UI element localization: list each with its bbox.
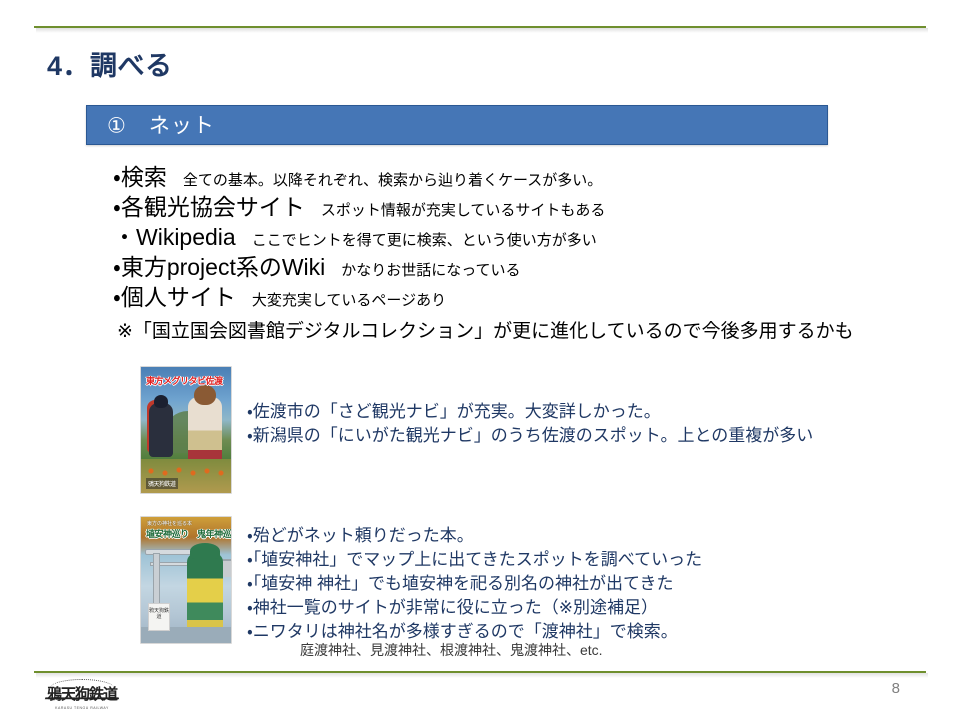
bullet-list: ・検索 全ての基本。以降それぞれ、検索から辿り着くケースが多い。 ・各観光協会サ… — [113, 166, 913, 316]
list-item: ・東方project系のWiki かなりお世話になっている — [113, 256, 913, 286]
bullet-keyword: ・東方project系のWiki — [113, 256, 325, 279]
cover2-ofuda-label: 鴉天狗鉄道 — [148, 603, 170, 631]
note-line: ※「国立国会図書館デジタルコレクション」が更に進化しているので今後多用するかも — [117, 316, 854, 343]
bullet-keyword: ・検索 — [113, 166, 167, 189]
cover2-top-caption: 東方の神社を巡る本 — [147, 520, 192, 527]
brand-logo: 鴉天狗鉄道 KARASU TENGU RAILWAY — [44, 678, 120, 710]
media-line: ・「埴安神 神社」でも埴安神を祀る別名の神社が出てきた — [247, 572, 702, 596]
media-text-block-1: ・佐渡市の「さど観光ナビ」が充実。大変詳しかった。 ・新潟県の「にいがた観光ナビ… — [247, 400, 813, 448]
cover2-character — [187, 553, 223, 633]
slide-root: 4．調べる ① ネット ・検索 全ての基本。以降それぞれ、検索から辿り着くケース… — [0, 0, 960, 720]
bullet-description: ここでヒントを得て更に検索、という使い方が多い — [252, 233, 597, 248]
brand-logo-subtext: KARASU TENGU RAILWAY — [44, 706, 120, 710]
book-cover-image-2: 鴉天狗鉄道 東方の神社を巡る本 埴安神巡り 鬼年神巡り — [140, 516, 232, 644]
bullet-description: スポット情報が充実しているサイトもある — [321, 203, 606, 218]
media-line: ・「埴安神社」でマップ上に出てきたスポットを調べていった — [247, 548, 702, 572]
bullet-keyword: ・個人サイト — [113, 286, 236, 309]
media-line: ・神社一覧のサイトが非常に役に立った（※別途補足） — [247, 596, 702, 620]
section-banner: ① ネット — [86, 105, 828, 145]
section-banner-label: ① ネット — [107, 109, 215, 139]
cover1-flowers — [145, 467, 229, 477]
list-item: ・各観光協会サイト スポット情報が充実しているサイトもある — [113, 196, 913, 226]
book-cover-image-1: 東方メグリタビ佐渡 鴉天狗鉄道 — [140, 366, 232, 494]
list-item: ・Wikipedia ここでヒントを得て更に検索、という使い方が多い — [113, 226, 913, 256]
cover2-title-text: 埴安神巡り 鬼年神巡り — [146, 527, 232, 540]
cover1-character-left — [149, 403, 173, 457]
media-line: ・佐渡市の「さど観光ナビ」が充実。大変詳しかった。 — [247, 400, 813, 424]
list-item: ・個人サイト 大変充実しているページあり — [113, 286, 913, 316]
bullet-keyword: ・Wikipedia — [113, 226, 236, 249]
bullet-description: かなりお世話になっている — [341, 263, 520, 278]
cover1-footer-caption: 鴉天狗鉄道 — [146, 478, 178, 489]
bullet-keyword: ・各観光協会サイト — [113, 196, 305, 219]
media-text-block-2: ・殆どがネット頼りだった本。 ・「埴安神社」でマップ上に出てきたスポットを調べて… — [247, 524, 702, 644]
page-number: 8 — [892, 680, 900, 697]
footer-divider-shadow — [36, 673, 928, 678]
media-line: ・殆どがネット頼りだった本。 — [247, 524, 702, 548]
media-line: ・新潟県の「にいがた観光ナビ」のうち佐渡のスポット。上との重複が多い — [247, 424, 813, 448]
bullet-description: 全ての基本。以降それぞれ、検索から辿り着くケースが多い。 — [183, 173, 602, 188]
bullet-description: 大変充実しているページあり — [252, 293, 446, 308]
cover2-ofuda-text: 鴉天狗鉄道 — [149, 608, 169, 620]
list-item: ・検索 全ての基本。以降それぞれ、検索から辿り着くケースが多い。 — [113, 166, 913, 196]
cover1-character-right — [188, 397, 222, 467]
top-divider-shadow — [36, 28, 928, 33]
cover1-title-text: 東方メグリタビ佐渡 — [146, 374, 227, 387]
page-title: 4．調べる — [47, 44, 173, 83]
shrine-examples-caption: 庭渡神社、見渡神社、根渡神社、鬼渡神社、etc. — [300, 640, 603, 660]
